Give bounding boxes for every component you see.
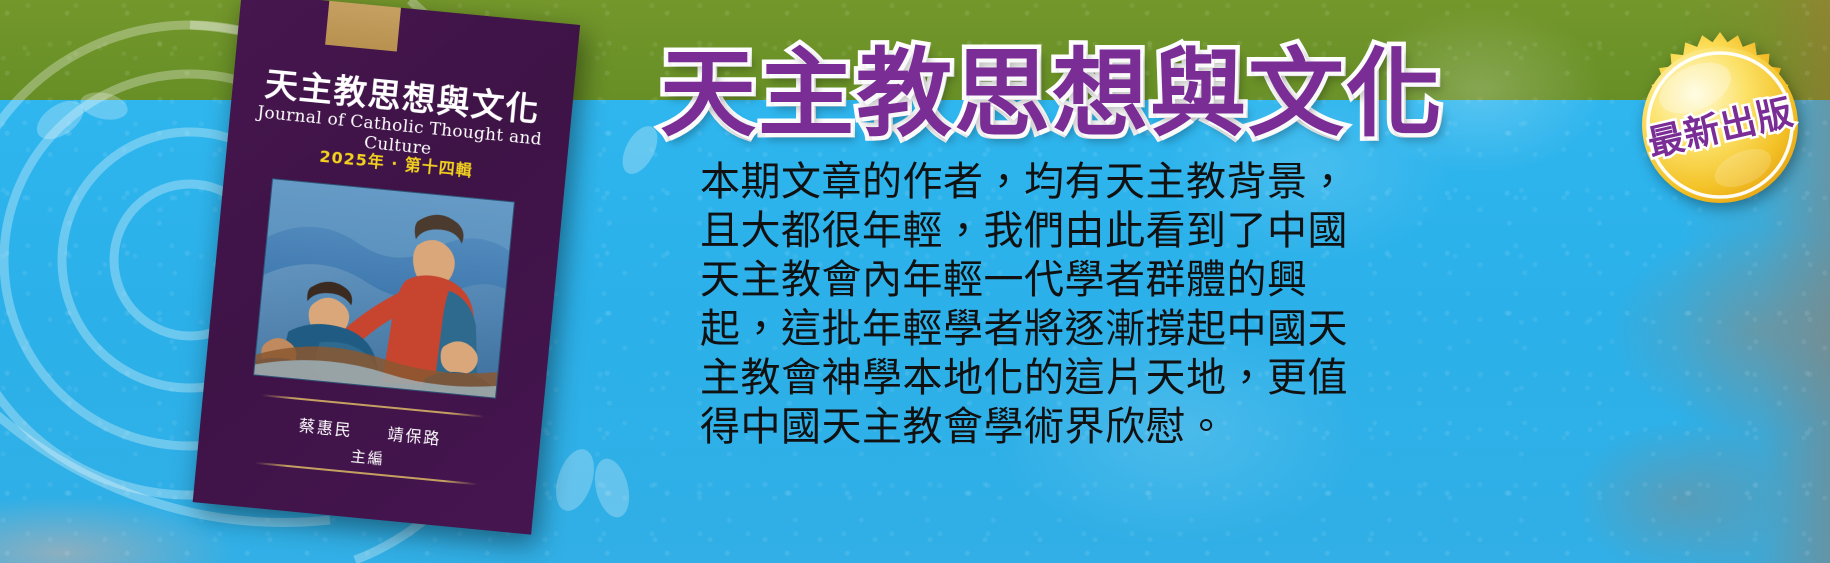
body-line: 且大都很年輕，我們由此看到了中國 — [700, 207, 1280, 256]
book-bookmark-tab — [325, 1, 401, 52]
book-cover[interactable]: 天主教思想與文化 Journal of Catholic Thought and… — [192, 0, 590, 544]
body-line: 本期文章的作者，均有天主教背景， — [700, 158, 1280, 207]
book-artwork — [253, 178, 515, 398]
book-editor-name-1: 蔡惠民 — [298, 412, 354, 441]
body-line: 主教會神學本地化的這片天地，更值 — [700, 354, 1280, 403]
book-editor-name-2: 靖保路 — [387, 421, 443, 450]
body-line: 得中國天主教會學術界欣慰。 — [700, 403, 1280, 452]
new-release-badge[interactable]: 最新出版 — [1625, 30, 1815, 220]
promotional-banner: 天主教思想與文化 Journal of Catholic Thought and… — [0, 0, 1830, 563]
body-line: 起，這批年輕學者將逐漸撐起中國天 — [700, 305, 1280, 354]
page-title: 天主教思想與文化 — [660, 46, 1444, 142]
body-line: 天主教會內年輕一代學者群體的興 — [700, 256, 1280, 305]
body-paragraph: 本期文章的作者，均有天主教背景， 且大都很年輕，我們由此看到了中國 天主教會內年… — [700, 158, 1280, 452]
